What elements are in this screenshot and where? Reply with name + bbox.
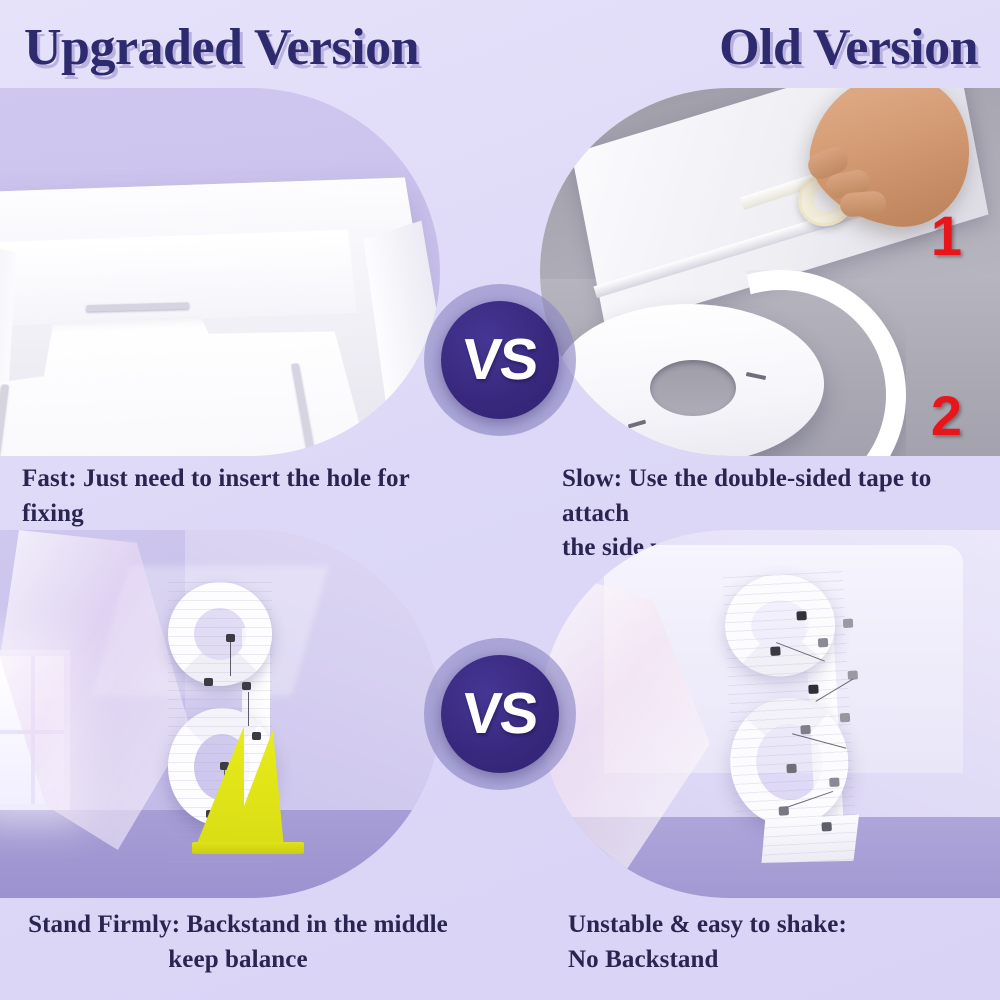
led-wire — [230, 642, 231, 676]
panel-old-assembly: 1 2 — [540, 88, 1000, 456]
led-bulb — [829, 778, 839, 788]
led-bulb — [818, 638, 828, 648]
scene-light-no-backstand — [540, 530, 1000, 898]
scene-tape-and-base: 1 2 — [540, 88, 1000, 456]
panel-upgraded-stability — [0, 530, 440, 898]
panel-old-stability — [540, 530, 1000, 898]
panel-upgraded-assembly — [0, 88, 440, 456]
led-bulb — [800, 725, 810, 735]
vs-badge-core: VS — [441, 655, 559, 773]
comparison-row-stability: VS — [0, 530, 1000, 898]
finger-3 — [839, 190, 887, 217]
step-number-1: 1 — [931, 208, 962, 264]
led-bulb — [821, 822, 831, 832]
vs-badge-label: VS — [461, 331, 538, 389]
scene-white-box-interior — [0, 88, 440, 456]
led-bulb — [204, 678, 213, 686]
led-bulb — [786, 764, 796, 774]
vs-badge-stability: VS — [424, 638, 576, 790]
led-wire — [248, 692, 249, 726]
heading-old-version: Old Version — [719, 22, 978, 74]
caption-upgraded-assembly: Fast: Just need to insert the hole for f… — [22, 462, 462, 531]
led-bulb — [226, 634, 235, 642]
caption-line-1: Fast: Just need to insert the hole for f… — [22, 462, 462, 531]
caption-old-stability: Unstable & easy to shake: No Backstand — [568, 908, 992, 977]
vs-badge-assembly: VS — [424, 284, 576, 436]
marquee-number-light — [722, 571, 857, 867]
vs-badge-label: VS — [461, 685, 538, 743]
comparison-infographic: Upgraded Version Old Version — [0, 0, 1000, 1000]
led-bulb — [840, 713, 850, 723]
vs-badge-core: VS — [441, 301, 559, 419]
caption-line-1: Unstable & easy to shake: — [568, 908, 992, 943]
led-bulb — [843, 619, 853, 629]
box-base-panel — [0, 311, 393, 456]
headings-bar: Upgraded Version Old Version — [0, 0, 1000, 88]
light-upper-loop — [168, 582, 272, 686]
scene-light-with-backstand — [0, 530, 440, 898]
heading-upgraded-version: Upgraded Version — [24, 22, 419, 74]
led-bulb — [242, 682, 251, 690]
led-bulb — [770, 646, 780, 656]
step-number-2: 2 — [931, 388, 962, 444]
box-back-wall — [0, 230, 357, 326]
light-foot — [759, 815, 861, 866]
comparison-row-assembly: 1 2 VS — [0, 88, 1000, 456]
base-center-hole — [650, 360, 736, 416]
caption-line-1: Stand Firmly: Backstand in the middle — [12, 908, 464, 943]
caption-line-2: keep balance — [12, 943, 464, 978]
backstand-foot — [192, 842, 304, 854]
caption-line-2: No Backstand — [568, 943, 992, 978]
led-bulb — [796, 611, 806, 621]
caption-upgraded-stability: Stand Firmly: Backstand in the middle ke… — [12, 908, 464, 977]
foam-box — [0, 177, 440, 456]
led-bulb — [808, 684, 818, 694]
led-bulb — [252, 732, 261, 740]
caption-line-1: Slow: Use the double-sided tape to attac… — [562, 462, 990, 531]
